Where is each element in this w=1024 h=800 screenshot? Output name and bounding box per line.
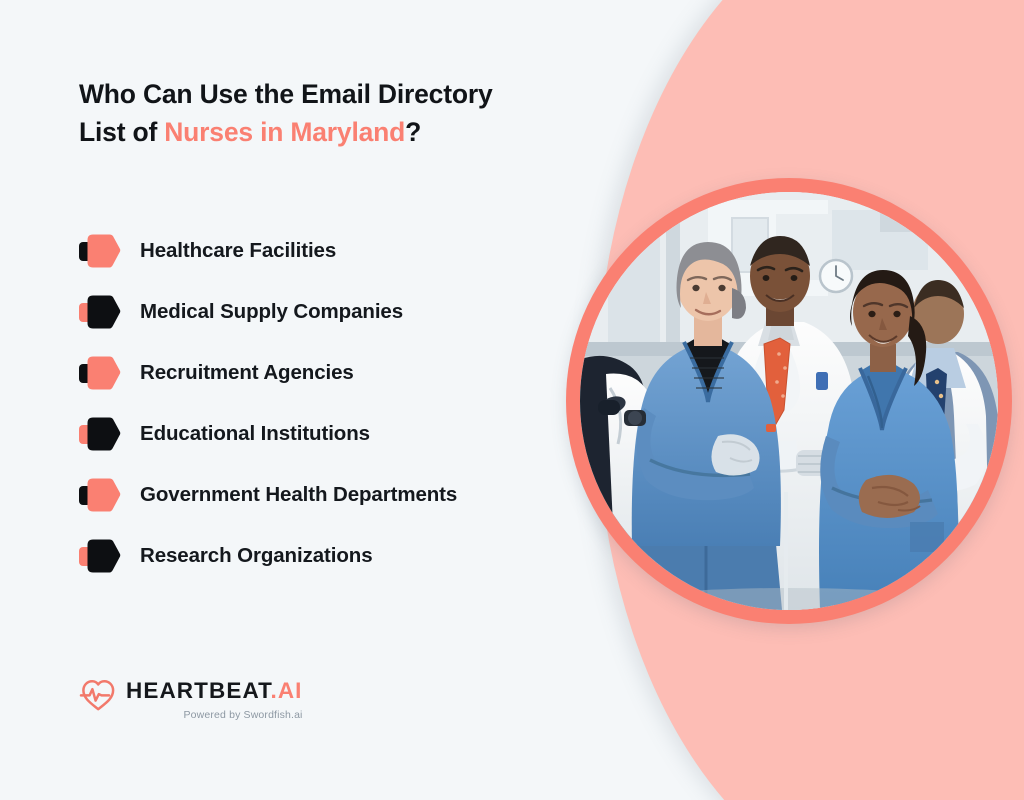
bullet-arrow-shape <box>86 233 122 269</box>
bullet-arrow-shape <box>86 294 122 330</box>
bullet-arrow-shape <box>86 355 122 391</box>
circular-photo-frame <box>566 178 1012 624</box>
arrow-bullet-icon <box>79 233 131 269</box>
arrow-bullet-icon <box>79 477 131 513</box>
list-item: Research Organizations <box>79 525 639 586</box>
infographic-canvas: Who Can Use the Email Directory List of … <box>0 0 1024 800</box>
list-item-label: Recruitment Agencies <box>140 361 354 385</box>
arrow-bullet-icon <box>79 538 131 574</box>
brand-tld: .AI <box>270 678 302 703</box>
audience-list: Healthcare FacilitiesMedical Supply Comp… <box>79 220 639 586</box>
nurses-team-photo <box>580 192 998 610</box>
page-title-line2-prefix: List of <box>79 117 164 147</box>
list-item: Government Health Departments <box>79 464 639 525</box>
list-item: Educational Institutions <box>79 403 639 464</box>
list-item-label: Government Health Departments <box>140 483 457 507</box>
heartbeat-pulse-icon <box>79 676 117 712</box>
brand-tagline: Powered by Swordfish.ai <box>126 709 303 721</box>
list-item-label: Healthcare Facilities <box>140 239 336 263</box>
page-title-highlight: Nurses in Maryland <box>164 117 405 147</box>
page-title: Who Can Use the Email Directory List of … <box>79 76 599 151</box>
list-item-label: Educational Institutions <box>140 422 370 446</box>
page-title-line1: Who Can Use the Email Directory <box>79 79 492 109</box>
page-title-line2-suffix: ? <box>405 117 421 147</box>
bullet-arrow-shape <box>86 416 122 452</box>
list-item: Healthcare Facilities <box>79 220 639 281</box>
brand-wordmark: HEARTBEAT.AI <box>126 680 303 703</box>
bullet-arrow-shape <box>86 538 122 574</box>
list-item-label: Medical Supply Companies <box>140 300 403 324</box>
brand-name: HEARTBEAT <box>126 678 270 703</box>
brand-logo: HEARTBEAT.AI Powered by Swordfish.ai <box>79 676 303 721</box>
list-item: Medical Supply Companies <box>79 281 639 342</box>
brand-text: HEARTBEAT.AI Powered by Swordfish.ai <box>126 676 303 721</box>
list-item: Recruitment Agencies <box>79 342 639 403</box>
arrow-bullet-icon <box>79 416 131 452</box>
bullet-arrow-shape <box>86 477 122 513</box>
arrow-bullet-icon <box>79 355 131 391</box>
list-item-label: Research Organizations <box>140 544 373 568</box>
arrow-bullet-icon <box>79 294 131 330</box>
